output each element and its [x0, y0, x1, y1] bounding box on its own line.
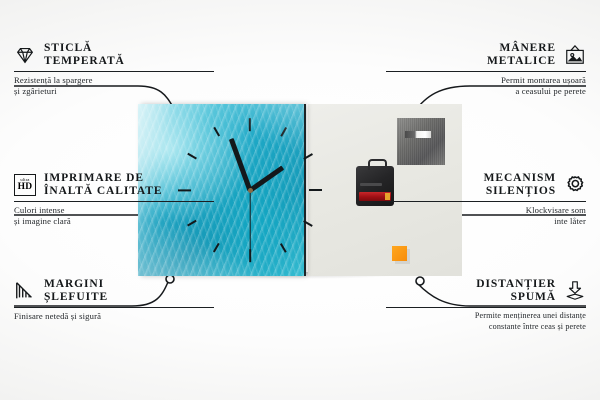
clock-tick — [309, 189, 322, 191]
bracket-slot — [405, 131, 431, 138]
callout-description: Finisare netedă și sigură — [14, 308, 214, 322]
callout-high-quality-print: ultra HD IMPRIMARE DE ÎNALTĂ CALITATE Cu… — [14, 172, 214, 226]
callout-description: Culori intense și imagine clară — [14, 202, 214, 226]
ultra-hd-icon-main: HD — [18, 183, 33, 193]
metal-hanger-bracket — [397, 118, 445, 165]
clock-tick — [213, 127, 219, 136]
callout-title: STICLĂ TEMPERATĂ — [44, 42, 125, 68]
movement-hook — [368, 159, 387, 170]
callout-metal-handles: MÂNERE METALICE Permit montarea ușoară a… — [386, 42, 586, 96]
callout-description: Rezistență la spargere și zgârieturi — [14, 72, 214, 96]
infographic-canvas: STICLĂ TEMPERATĂ Rezistență la spargere … — [0, 0, 600, 400]
hour-hand — [249, 165, 285, 192]
callout-tempered-glass: STICLĂ TEMPERATĂ Rezistență la spargere … — [14, 42, 214, 96]
minute-hand — [229, 137, 253, 190]
callout-title: MECANISM SILENȚIOS — [484, 172, 556, 198]
callout-description: Klockvisare som inte låter — [386, 202, 586, 226]
clock-tick — [213, 243, 219, 252]
foam-spacer-part — [392, 246, 407, 261]
callout-description: Permit montarea ușoară a ceasului pe per… — [386, 72, 586, 96]
callout-silent-mechanism: MECANISM SILENȚIOS Klockvisare som inte … — [386, 172, 586, 226]
gear-icon — [564, 174, 586, 196]
callout-title: DISTANȚIER SPUMĂ — [476, 278, 556, 304]
ultra-hd-icon: ultra HD — [14, 174, 36, 196]
callout-polished-edges: MARGINI ȘLEFUITE Finisare netedă și sigu… — [14, 278, 214, 322]
clock-tick — [280, 127, 286, 136]
clock-center-pin — [248, 188, 253, 193]
second-hand — [249, 190, 250, 252]
foam-spacer-icon — [564, 280, 586, 302]
callout-title: MARGINI ȘLEFUITE — [44, 278, 108, 304]
callout-title: IMPRIMARE DE ÎNALTĂ CALITATE — [44, 172, 162, 198]
movement-detail — [360, 183, 382, 186]
clock-tick — [249, 118, 251, 131]
clock-tick — [280, 243, 286, 252]
callout-foam-spacer: DISTANȚIER SPUMĂ Permite menținerea unei… — [386, 278, 586, 332]
picture-hanger-icon — [564, 44, 586, 66]
callout-description: Permite menținerea unei distanțe constan… — [386, 308, 586, 332]
beveled-edge-icon — [14, 280, 36, 302]
callout-title: MÂNERE METALICE — [487, 42, 556, 68]
clock-tick — [187, 153, 196, 159]
diamond-icon — [14, 44, 36, 66]
